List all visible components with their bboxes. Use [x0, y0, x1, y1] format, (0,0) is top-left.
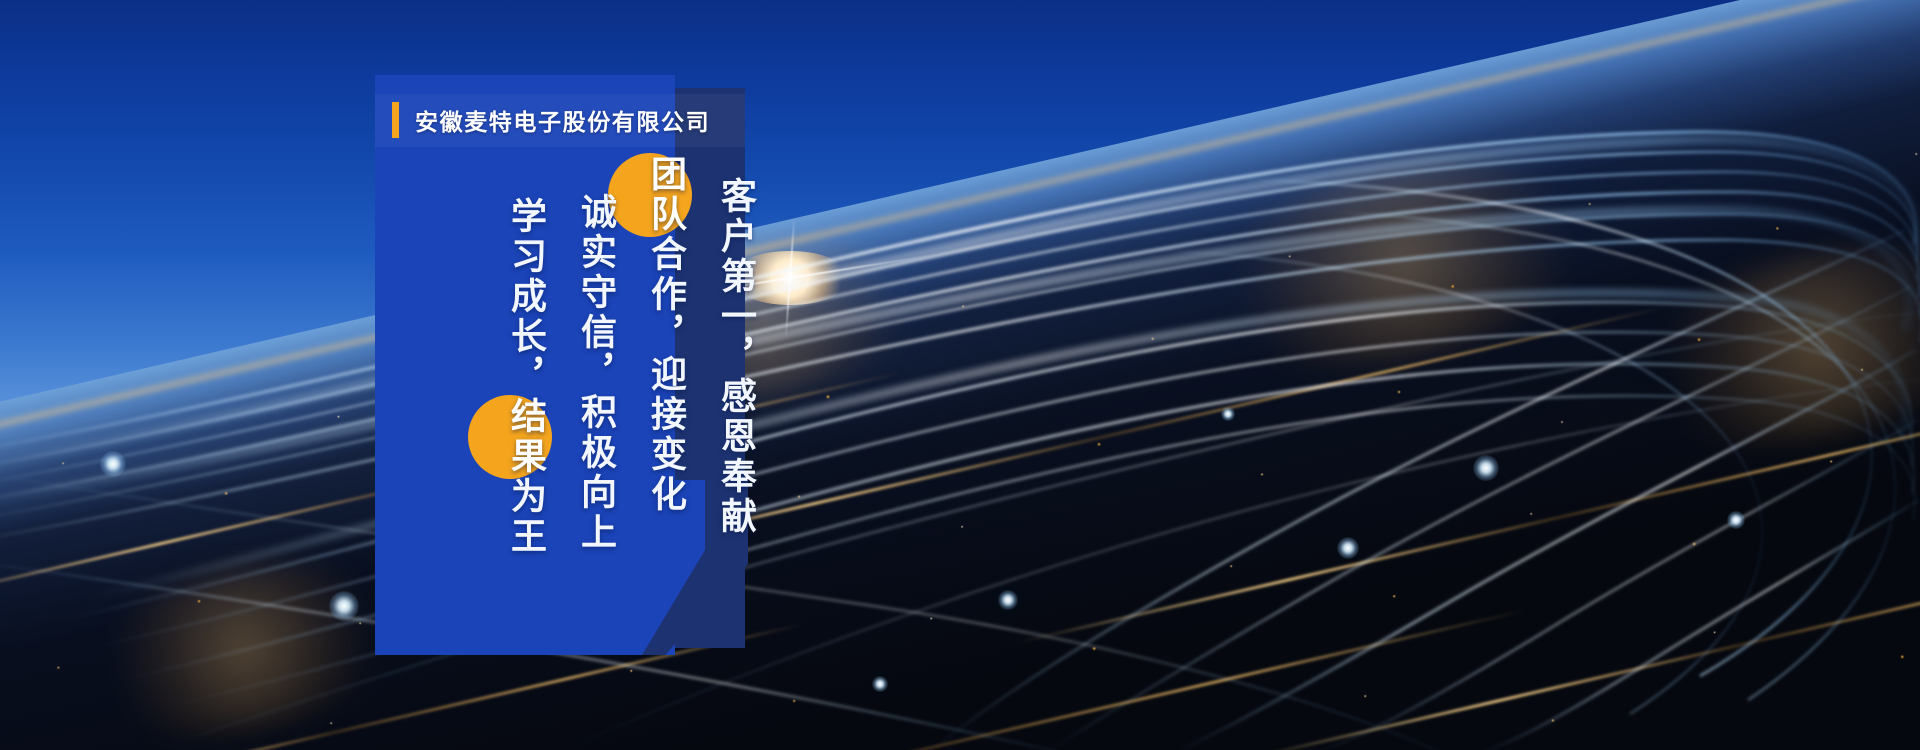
- slogan-char: 习: [506, 237, 545, 277]
- panel-title-row: 安徽麦特电子股份有限公司: [392, 100, 710, 140]
- slogan-char: 客: [716, 177, 755, 217]
- slogan-char-highlight: 结: [506, 397, 545, 437]
- slogan-char: 实: [576, 233, 615, 273]
- accent-bar-icon: [392, 102, 399, 138]
- slogan-char: 学: [506, 197, 545, 237]
- slogan-column-3: 诚实守信，积极向上: [545, 193, 615, 553]
- slogan-columns: 客户第一，感恩奉献 团队合作，迎接变化 诚实守信，积极向上 学习成长，结果为王: [375, 155, 755, 585]
- slogan-char-highlight: 团: [646, 155, 685, 195]
- slogan-char: 极: [576, 433, 615, 473]
- slogan-char: 一: [716, 297, 755, 337]
- slogan-char: 合: [646, 235, 685, 275]
- slogan-char: 成: [506, 277, 545, 317]
- company-name: 安徽麦特电子股份有限公司: [415, 103, 710, 137]
- network-node: [329, 591, 359, 621]
- network-node: [100, 451, 126, 477]
- slogan-char: 积: [576, 393, 615, 433]
- slogan-char: 第: [716, 257, 755, 297]
- slogan-char: 向: [576, 473, 615, 513]
- slogan-char-highlight: 队: [646, 195, 685, 235]
- slogan-char: 信: [576, 313, 615, 353]
- slogan-char: 迎: [646, 355, 685, 395]
- slogan-char-highlight: 果: [506, 437, 545, 477]
- slogan-char: 变: [646, 435, 685, 475]
- slogan-char: 感: [716, 377, 755, 417]
- slogan-char: 守: [576, 273, 615, 313]
- network-node: [1727, 511, 1745, 529]
- slogan-char: 奉: [716, 457, 755, 497]
- slogan-char: ，: [506, 357, 545, 397]
- slogan-column-1: 客户第一，感恩奉献: [685, 177, 755, 537]
- network-node: [872, 676, 888, 692]
- network-node: [1337, 537, 1359, 559]
- slogan-char: 献: [716, 497, 755, 537]
- slogan-char: 接: [646, 395, 685, 435]
- slogan-char: 长: [506, 317, 545, 357]
- slogan-char: 王: [506, 517, 545, 557]
- slogan-char: ，: [646, 315, 685, 355]
- slogan-char: ，: [716, 337, 755, 377]
- slogan-char: 为: [506, 477, 545, 517]
- banner-root: 安徽麦特电子股份有限公司 客户第一，感恩奉献 团队合作，迎接变化 诚实守信，积极…: [0, 0, 1920, 750]
- slogan-char: 作: [646, 275, 685, 315]
- slogan-char: 恩: [716, 417, 755, 457]
- slogan-char: ，: [576, 353, 615, 393]
- slogan-char: 化: [646, 475, 685, 515]
- slogan-column-4: 学习成长，结果为王: [475, 197, 545, 557]
- network-node: [1221, 407, 1235, 421]
- slogan-column-2: 团队合作，迎接变化: [615, 155, 685, 515]
- network-node: [998, 590, 1018, 610]
- slogan-char: 上: [576, 513, 615, 553]
- slogan-char: 诚: [576, 193, 615, 233]
- slogan-char: 户: [716, 217, 755, 257]
- network-node: [1473, 455, 1499, 481]
